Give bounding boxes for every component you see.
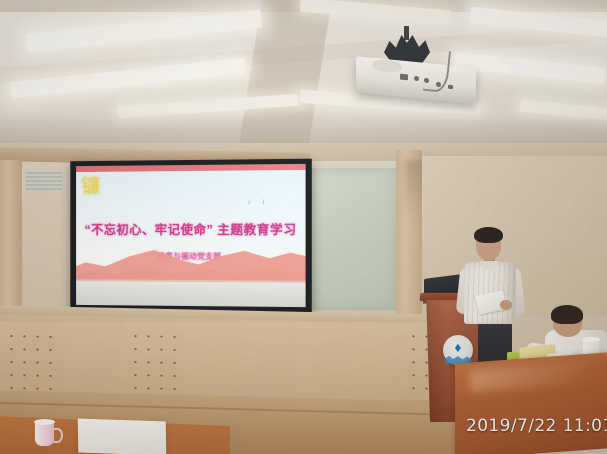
birds-icon: ⱼ ⱼ	[248, 194, 291, 210]
white-document-left	[78, 418, 167, 454]
acoustic-panel	[182, 321, 241, 400]
screen-glare	[76, 279, 305, 307]
projector-port	[414, 76, 419, 81]
wall-column-edge	[0, 160, 22, 312]
slide-top-band	[76, 164, 305, 172]
wall-panel-green	[310, 168, 396, 310]
party-emblem-icon: 镰	[81, 177, 102, 197]
slide-mountain-front	[76, 242, 305, 283]
speaker-hair	[474, 227, 503, 243]
projector-port	[400, 74, 408, 81]
projector-port	[448, 85, 453, 89]
acoustic-panel-perforations	[5, 329, 57, 390]
attendee-hair	[551, 305, 583, 324]
paper-cup-rim	[582, 337, 600, 342]
acoustic-panel	[240, 321, 297, 400]
acoustic-panel-perforations	[129, 329, 177, 390]
acoustic-panel	[62, 321, 125, 400]
slide-title: “不忘初心、牢记使命” 主题教育学习	[76, 219, 305, 238]
camera-timestamp: 2019/7/22 11:01	[466, 416, 607, 436]
projection-screen: 镰 ⱼ ⱼ “不忘初心、牢记使命” 主题教育学习 噪声与振动党支部 2019.0…	[70, 159, 311, 314]
acoustic-panel	[352, 321, 403, 400]
slide-surface: 镰 ⱼ ⱼ “不忘初心、牢记使命” 主题教育学习 噪声与振动党支部 2019.0…	[76, 164, 305, 307]
photograph: 镰 ⱼ ⱼ “不忘初心、牢记使命” 主题教育学习 噪声与振动党支部 2019.0…	[0, 0, 607, 454]
projector-mount-rod	[404, 26, 409, 40]
mug-rim	[34, 419, 55, 425]
acoustic-panel	[296, 321, 353, 400]
speaker-hand	[500, 300, 512, 310]
wall-vent	[26, 170, 62, 192]
